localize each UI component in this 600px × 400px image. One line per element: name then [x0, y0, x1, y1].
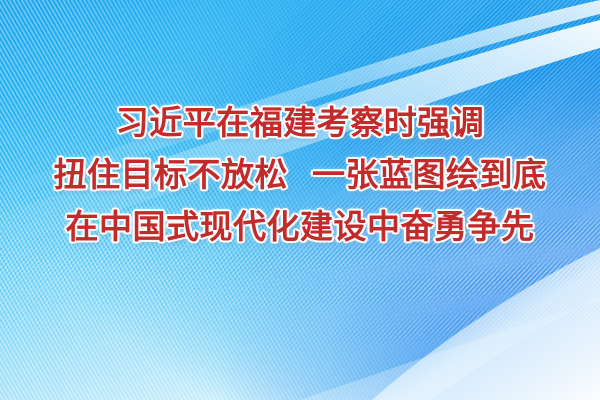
swoosh-bottom-wedge [372, 248, 600, 400]
headline-line-2: 扭住目标不放松 一张蓝图绘到底 [54, 156, 547, 195]
headline-block: 习近平在福建考察时强调 扭住目标不放松 一张蓝图绘到底 在中国式现代化建设中奋勇… [0, 104, 600, 247]
swoosh-bottom-secondary [300, 296, 600, 400]
headline-line-3: 在中国式现代化建设中奋勇争先 [66, 208, 535, 247]
news-banner: 习近平在福建考察时强调 扭住目标不放松 一张蓝图绘到底 在中国式现代化建设中奋勇… [0, 0, 600, 400]
headline-line-1: 习近平在福建考察时强调 [116, 104, 485, 143]
